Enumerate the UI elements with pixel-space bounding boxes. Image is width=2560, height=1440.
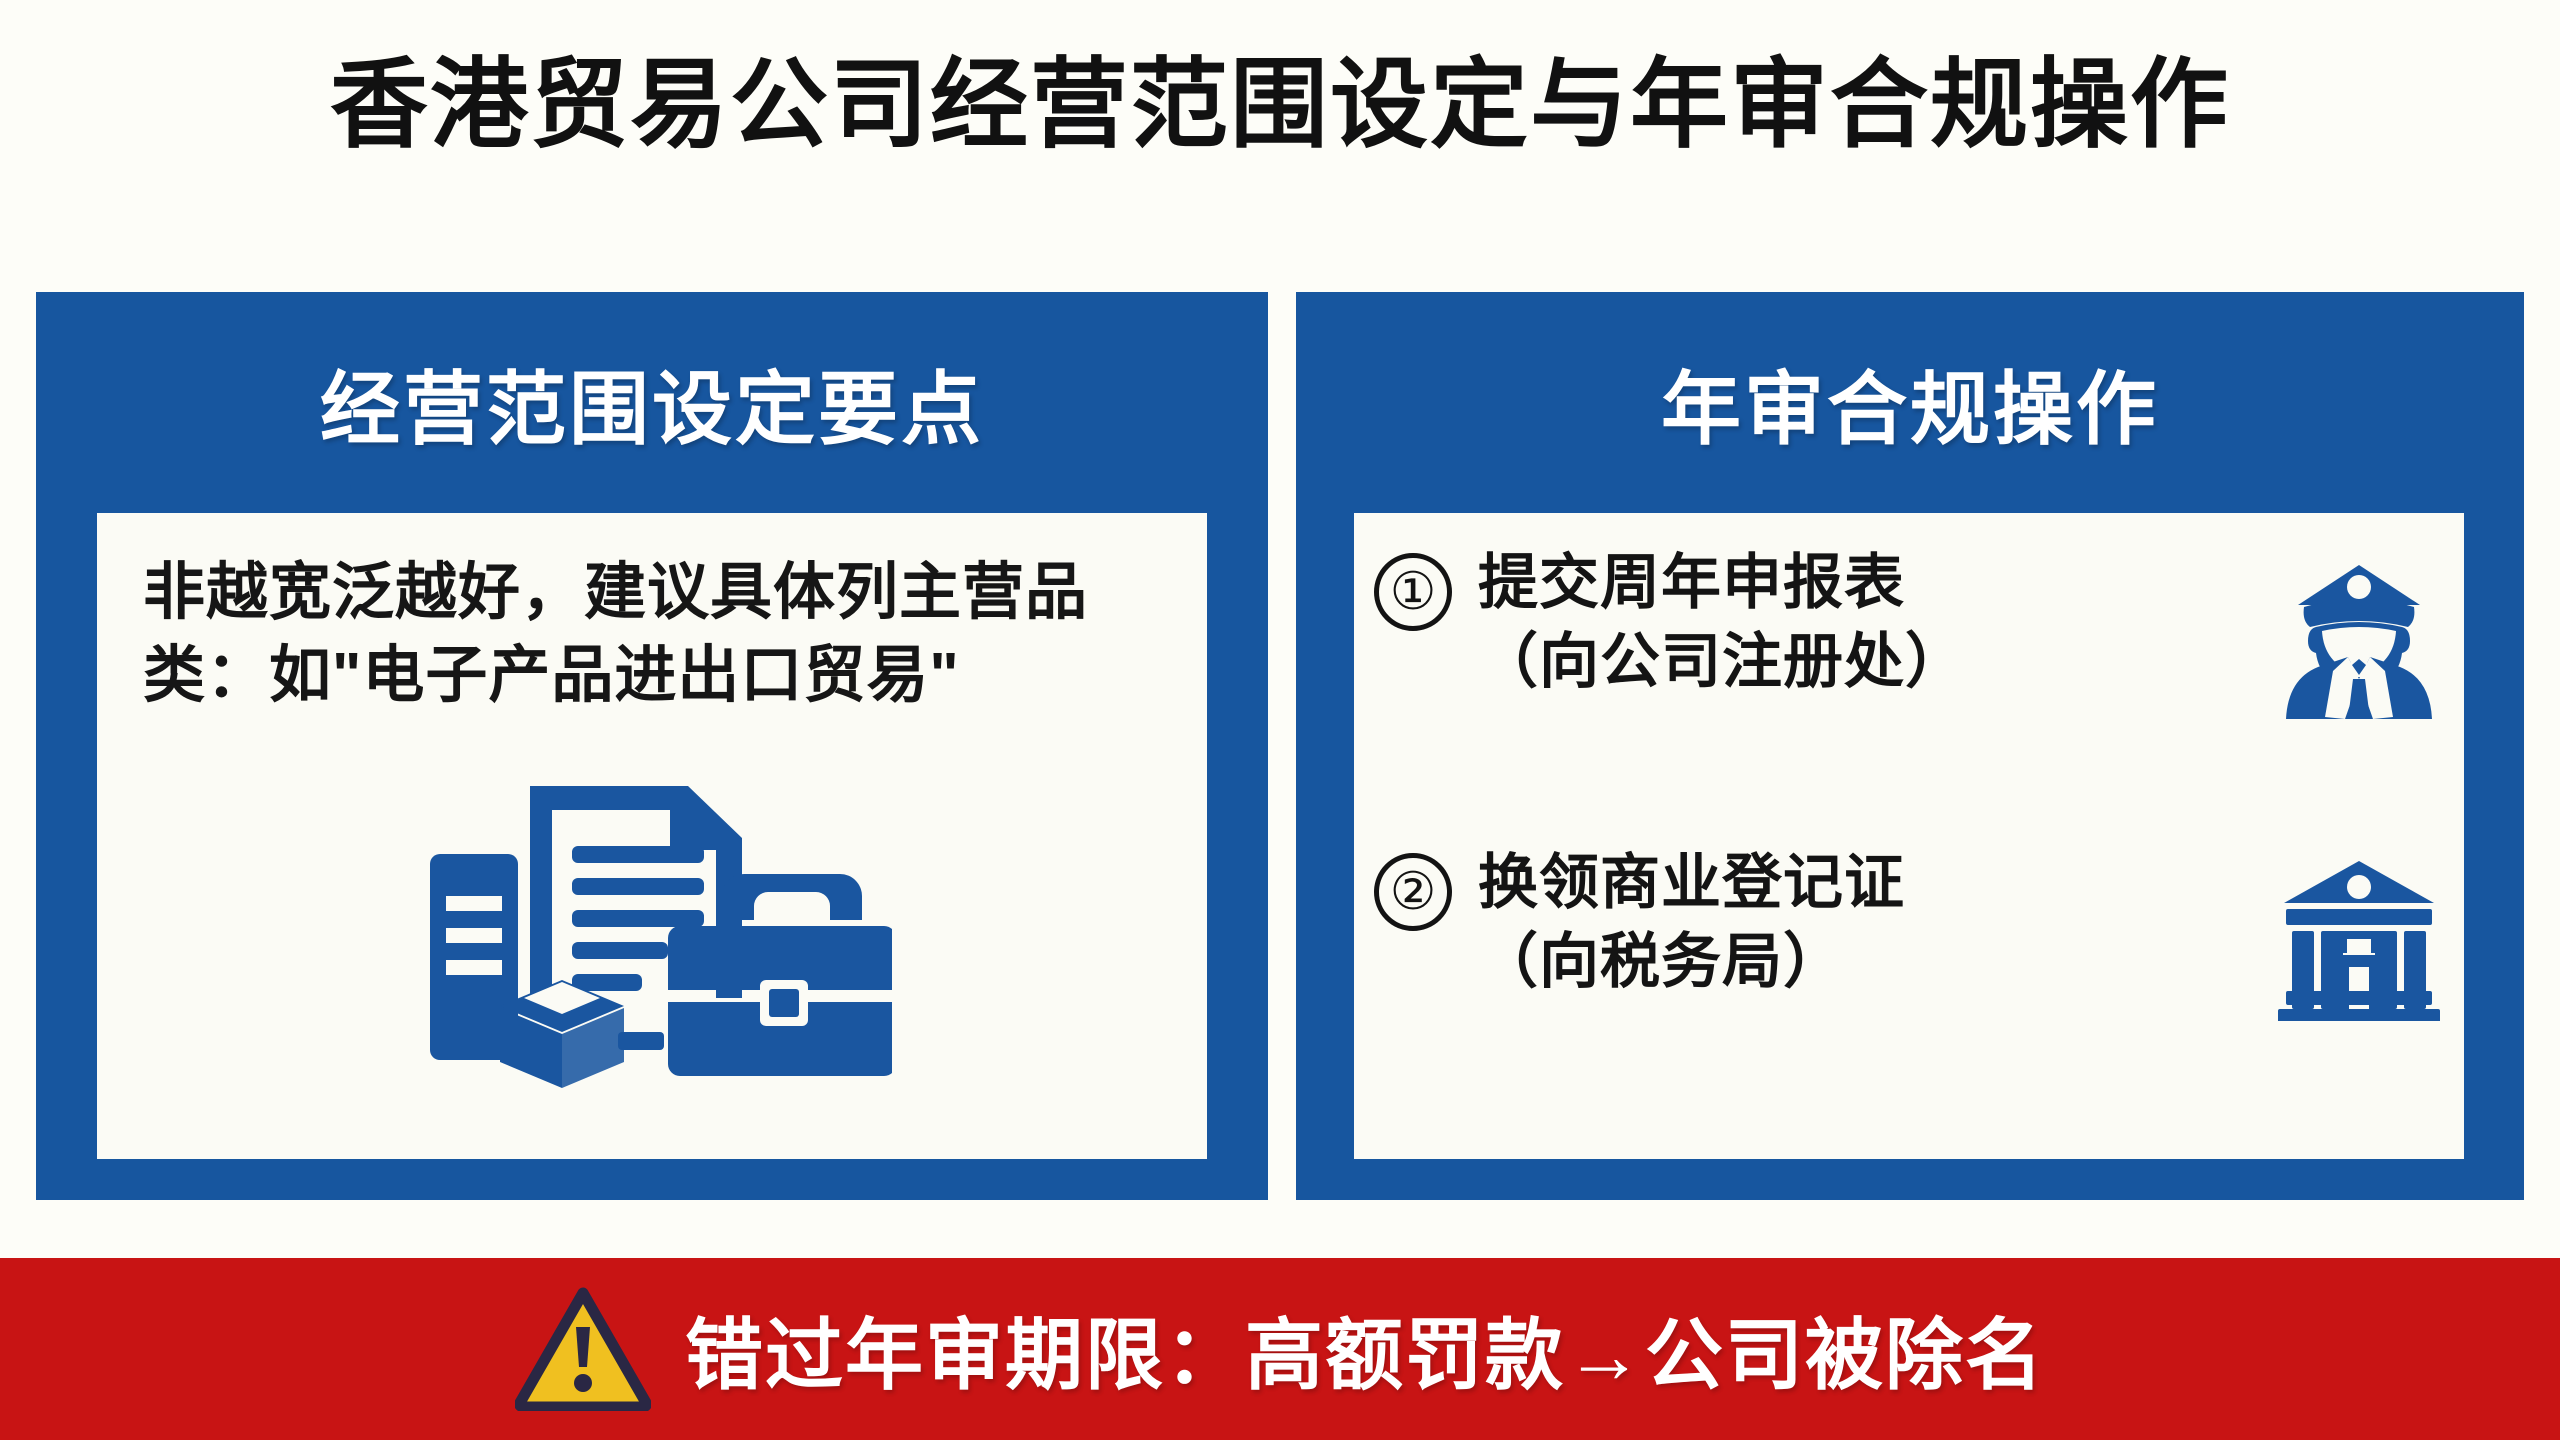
- warning-triangle-icon: [515, 1287, 651, 1411]
- item-text-2: 换领商业登记证 （向税务局）: [1478, 843, 2268, 1001]
- item-1-line-1: 提交周年申报表: [1478, 543, 2268, 622]
- warning-banner-text: 错过年审期限：高额罚款→公司被除名: [685, 1293, 2045, 1405]
- officer-icon: [2274, 551, 2444, 721]
- panel-annual-review-card: ① 提交周年申报表 （向公司注册处）: [1354, 513, 2464, 1159]
- panel-scope-header-label: 经营范围设定要点: [320, 345, 984, 461]
- item-number-1: ①: [1374, 553, 1452, 631]
- item-number-2: ②: [1374, 853, 1452, 931]
- scope-body-text: 非越宽泛越好，建议具体列主营品类：如"电子产品进出口贸易": [143, 551, 1163, 717]
- item-1-line-2: （向公司注册处）: [1478, 622, 2268, 701]
- list-item: ② 换领商业登记证 （向税务局）: [1374, 843, 2444, 1021]
- government-building-icon: [2274, 851, 2444, 1021]
- panel-scope-card: 非越宽泛越好，建议具体列主营品类：如"电子产品进出口贸易": [97, 513, 1207, 1159]
- page-title: 香港贸易公司经营范围设定与年审合规操作: [330, 53, 2230, 156]
- panel-scope: 经营范围设定要点 非越宽泛越好，建议具体列主营品类：如"电子产品进出口贸易": [36, 292, 1268, 1200]
- item-2-line-1: 换领商业登记证: [1478, 843, 2268, 922]
- panel-annual-review-header: 年审合规操作: [1296, 292, 2524, 514]
- panel-annual-review: 年审合规操作 ① 提交周年申报表 （向公司注册处）: [1296, 292, 2524, 1200]
- panel-scope-header: 经营范围设定要点: [36, 292, 1268, 514]
- list-item: ① 提交周年申报表 （向公司注册处）: [1374, 543, 2444, 721]
- panel-annual-review-header-label: 年审合规操作: [1661, 345, 2159, 461]
- item-2-line-2: （向税务局）: [1478, 922, 2268, 1001]
- item-text-1: 提交周年申报表 （向公司注册处）: [1478, 543, 2268, 701]
- warning-banner-inner: 错过年审期限：高额罚款→公司被除名: [515, 1287, 2045, 1411]
- page-title-container: 香港贸易公司经营范围设定与年审合规操作: [0, 34, 2560, 174]
- slide-root: 香港贸易公司经营范围设定与年审合规操作 经营范围设定要点 非越宽泛越好，建议具体…: [0, 0, 2560, 1440]
- warning-banner: 错过年审期限：高额罚款→公司被除名: [0, 1258, 2560, 1440]
- documents-briefcase-icon: [412, 758, 892, 1088]
